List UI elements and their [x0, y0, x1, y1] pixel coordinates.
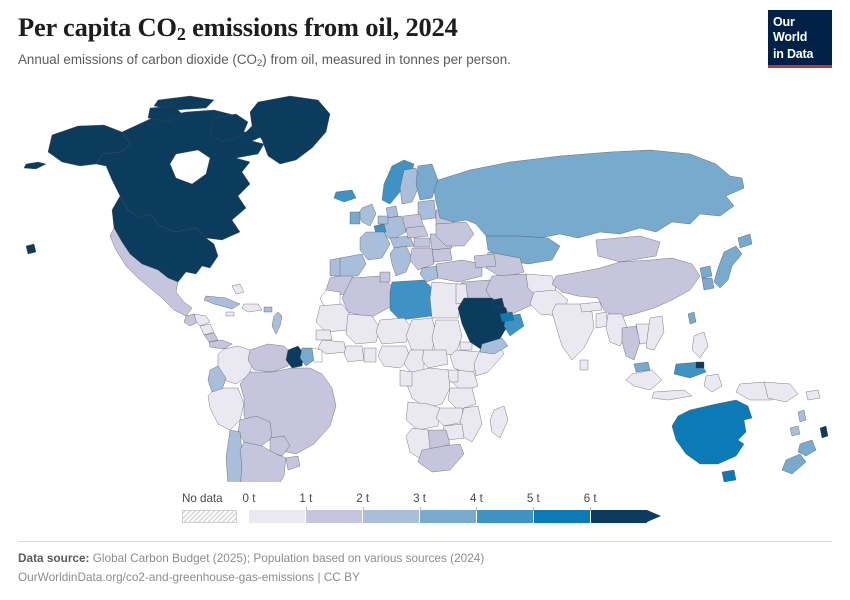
owid-logo[interactable]: Our World in Data	[768, 10, 832, 68]
country-peru[interactable]	[208, 388, 244, 430]
country-portugal[interactable]	[330, 258, 340, 276]
country-dr-congo[interactable]	[406, 368, 450, 408]
country-mali[interactable]	[346, 314, 380, 344]
legend-bin-5[interactable]	[534, 510, 591, 523]
country-bolivia[interactable]	[238, 416, 272, 448]
country-angola[interactable]	[406, 402, 440, 430]
legend-tick-1: 1 t	[299, 492, 312, 505]
legend-bin-2[interactable]	[363, 510, 420, 523]
chart-header: Per capita CO2 emissions from oil, 2024 …	[18, 12, 832, 70]
legend-tickmark-1	[306, 507, 307, 511]
country-zambia[interactable]	[436, 408, 464, 426]
legend-bins[interactable]	[249, 510, 647, 523]
country-united-kingdom[interactable]	[358, 204, 376, 226]
legend-bin-4[interactable]	[477, 510, 534, 523]
country-philippines[interactable]	[692, 332, 708, 358]
subtitle-part-1: Annual emissions of carbon dioxide (CO	[18, 52, 257, 67]
chart-footer: Data source: Global Carbon Budget (2025)…	[18, 549, 832, 587]
country-new-zealand-south[interactable]	[782, 454, 806, 474]
country-australia[interactable]	[672, 400, 752, 464]
legend-no-data-swatch[interactable]	[182, 510, 237, 523]
country-vanuatu[interactable]	[798, 410, 806, 422]
country-japan-hokkaido[interactable]	[738, 234, 752, 248]
legend-tick-2: 2 t	[356, 492, 369, 505]
country-north-korea[interactable]	[700, 266, 712, 278]
country-honduras[interactable]	[194, 314, 210, 326]
country-hispaniola[interactable]	[242, 304, 262, 312]
country-gabon[interactable]	[400, 370, 412, 386]
country-greece[interactable]	[420, 266, 438, 282]
country-sri-lanka[interactable]	[580, 360, 588, 370]
legend-tickmark-5	[533, 507, 534, 511]
title-subscript: 2	[177, 24, 186, 44]
country-madagascar[interactable]	[490, 406, 508, 438]
legend-bin-1[interactable]	[306, 510, 363, 523]
country-eritrea[interactable]	[460, 342, 472, 350]
country-japan[interactable]	[714, 246, 742, 288]
legend-bin-3[interactable]	[420, 510, 477, 523]
subtitle-part-2: ) from oil, measured in tonnes per perso…	[262, 52, 511, 67]
country-aleutian-islands[interactable]	[24, 162, 46, 169]
title-part-1: Per capita CO	[18, 12, 177, 42]
country-chad[interactable]	[406, 318, 436, 352]
country-nepal-bhutan[interactable]	[580, 302, 602, 312]
country-tasmania[interactable]	[722, 470, 736, 482]
legend-no-data-label: No data	[182, 492, 223, 505]
country-tunisia[interactable]	[380, 272, 390, 282]
country-guinea[interactable]	[318, 340, 346, 354]
footer-divider	[18, 541, 832, 542]
country-libya[interactable]	[390, 280, 432, 320]
logo-line-2: in Data	[773, 47, 827, 66]
footer-link-line[interactable]: OurWorldinData.org/co2-and-greenhouse-ga…	[18, 568, 832, 587]
country-brunei[interactable]	[696, 362, 704, 368]
page-subtitle: Annual emissions of carbon dioxide (CO2)…	[18, 51, 832, 70]
country-mongolia[interactable]	[596, 236, 660, 262]
country-uae[interactable]	[500, 312, 514, 322]
country-ghana[interactable]	[364, 348, 376, 362]
footer-source-text: Global Carbon Budget (2025); Population …	[93, 551, 485, 565]
logo-line-1: Our World	[773, 15, 827, 47]
country-russia[interactable]	[434, 150, 744, 242]
country-netherlands[interactable]	[378, 216, 388, 224]
footer-source-line: Data source: Global Carbon Budget (2025)…	[18, 549, 832, 568]
country-cuba[interactable]	[204, 296, 240, 309]
world-map-svg[interactable]	[0, 92, 850, 482]
country-solomon-islands[interactable]	[806, 390, 820, 400]
legend-tick-5: 5 t	[527, 492, 540, 505]
world-map[interactable]	[0, 92, 850, 482]
country-bulgaria[interactable]	[432, 248, 452, 262]
country-indonesia-java[interactable]	[652, 390, 692, 400]
country-south-korea[interactable]	[702, 278, 714, 290]
country-france[interactable]	[360, 232, 390, 260]
legend-color-ramp[interactable]	[249, 510, 677, 523]
country-greenland[interactable]	[250, 96, 330, 164]
country-hungary[interactable]	[414, 238, 430, 247]
legend-tickmark-2	[363, 507, 364, 511]
country-uruguay[interactable]	[286, 456, 300, 470]
legend-tick-4: 4 t	[470, 492, 483, 505]
country-new-caledonia[interactable]	[790, 426, 800, 436]
country-indonesia-sulawesi[interactable]	[704, 374, 722, 392]
country-mauritania[interactable]	[316, 304, 350, 332]
country-puerto-rico[interactable]	[264, 307, 272, 312]
legend-tickmark-3	[420, 507, 421, 511]
country-niger[interactable]	[376, 318, 412, 344]
country-hawaii[interactable]	[26, 244, 36, 254]
legend-bin-6[interactable]	[591, 510, 647, 523]
country-panama[interactable]	[209, 340, 232, 349]
chart-container: Per capita CO2 emissions from oil, 2024 …	[0, 0, 850, 600]
country-italy[interactable]	[390, 246, 412, 276]
country-central-african-republic[interactable]	[422, 350, 448, 368]
legend-tickmark-6	[590, 507, 591, 511]
legend-tick-3: 3 t	[413, 492, 426, 505]
country-western-sahara[interactable]	[320, 290, 340, 306]
country-bahamas[interactable]	[232, 284, 244, 294]
country-malaysia[interactable]	[634, 362, 650, 372]
country-tanzania[interactable]	[448, 388, 476, 410]
country-vietnam[interactable]	[646, 316, 664, 350]
country-georgia-armenia-azerbaijan[interactable]	[474, 254, 496, 268]
country-new-zealand-north[interactable]	[798, 440, 816, 456]
country-fiji[interactable]	[820, 426, 828, 438]
legend-tick-0: 0 t	[243, 492, 256, 505]
page-title: Per capita CO2 emissions from oil, 2024	[18, 12, 832, 45]
map-legend[interactable]: No data 0 t1 t2 t3 t4 t5 t6 t	[0, 492, 850, 534]
legend-tickmark-4	[476, 507, 477, 511]
country-czechia-slovakia[interactable]	[406, 226, 428, 238]
legend-open-ended-arrow	[647, 510, 661, 522]
footer-source-label: Data source:	[18, 551, 89, 565]
country-iceland[interactable]	[334, 190, 356, 202]
country-lesser-antilles[interactable]	[272, 312, 282, 334]
country-senegal[interactable]	[316, 330, 332, 340]
country-venezuela[interactable]	[248, 344, 292, 372]
legend-bin-0[interactable]	[249, 510, 306, 523]
country-ireland[interactable]	[350, 212, 360, 224]
country-jamaica[interactable]	[226, 312, 234, 316]
country-indonesia-sumatra[interactable]	[626, 370, 662, 390]
title-part-2: emissions from oil, 2024	[186, 12, 458, 42]
country-taiwan[interactable]	[688, 312, 696, 324]
country-ivory-coast[interactable]	[344, 346, 364, 362]
legend-tick-6: 6 t	[584, 492, 597, 505]
country-india[interactable]	[552, 304, 594, 360]
country-kuwait-qatar[interactable]	[492, 298, 504, 308]
